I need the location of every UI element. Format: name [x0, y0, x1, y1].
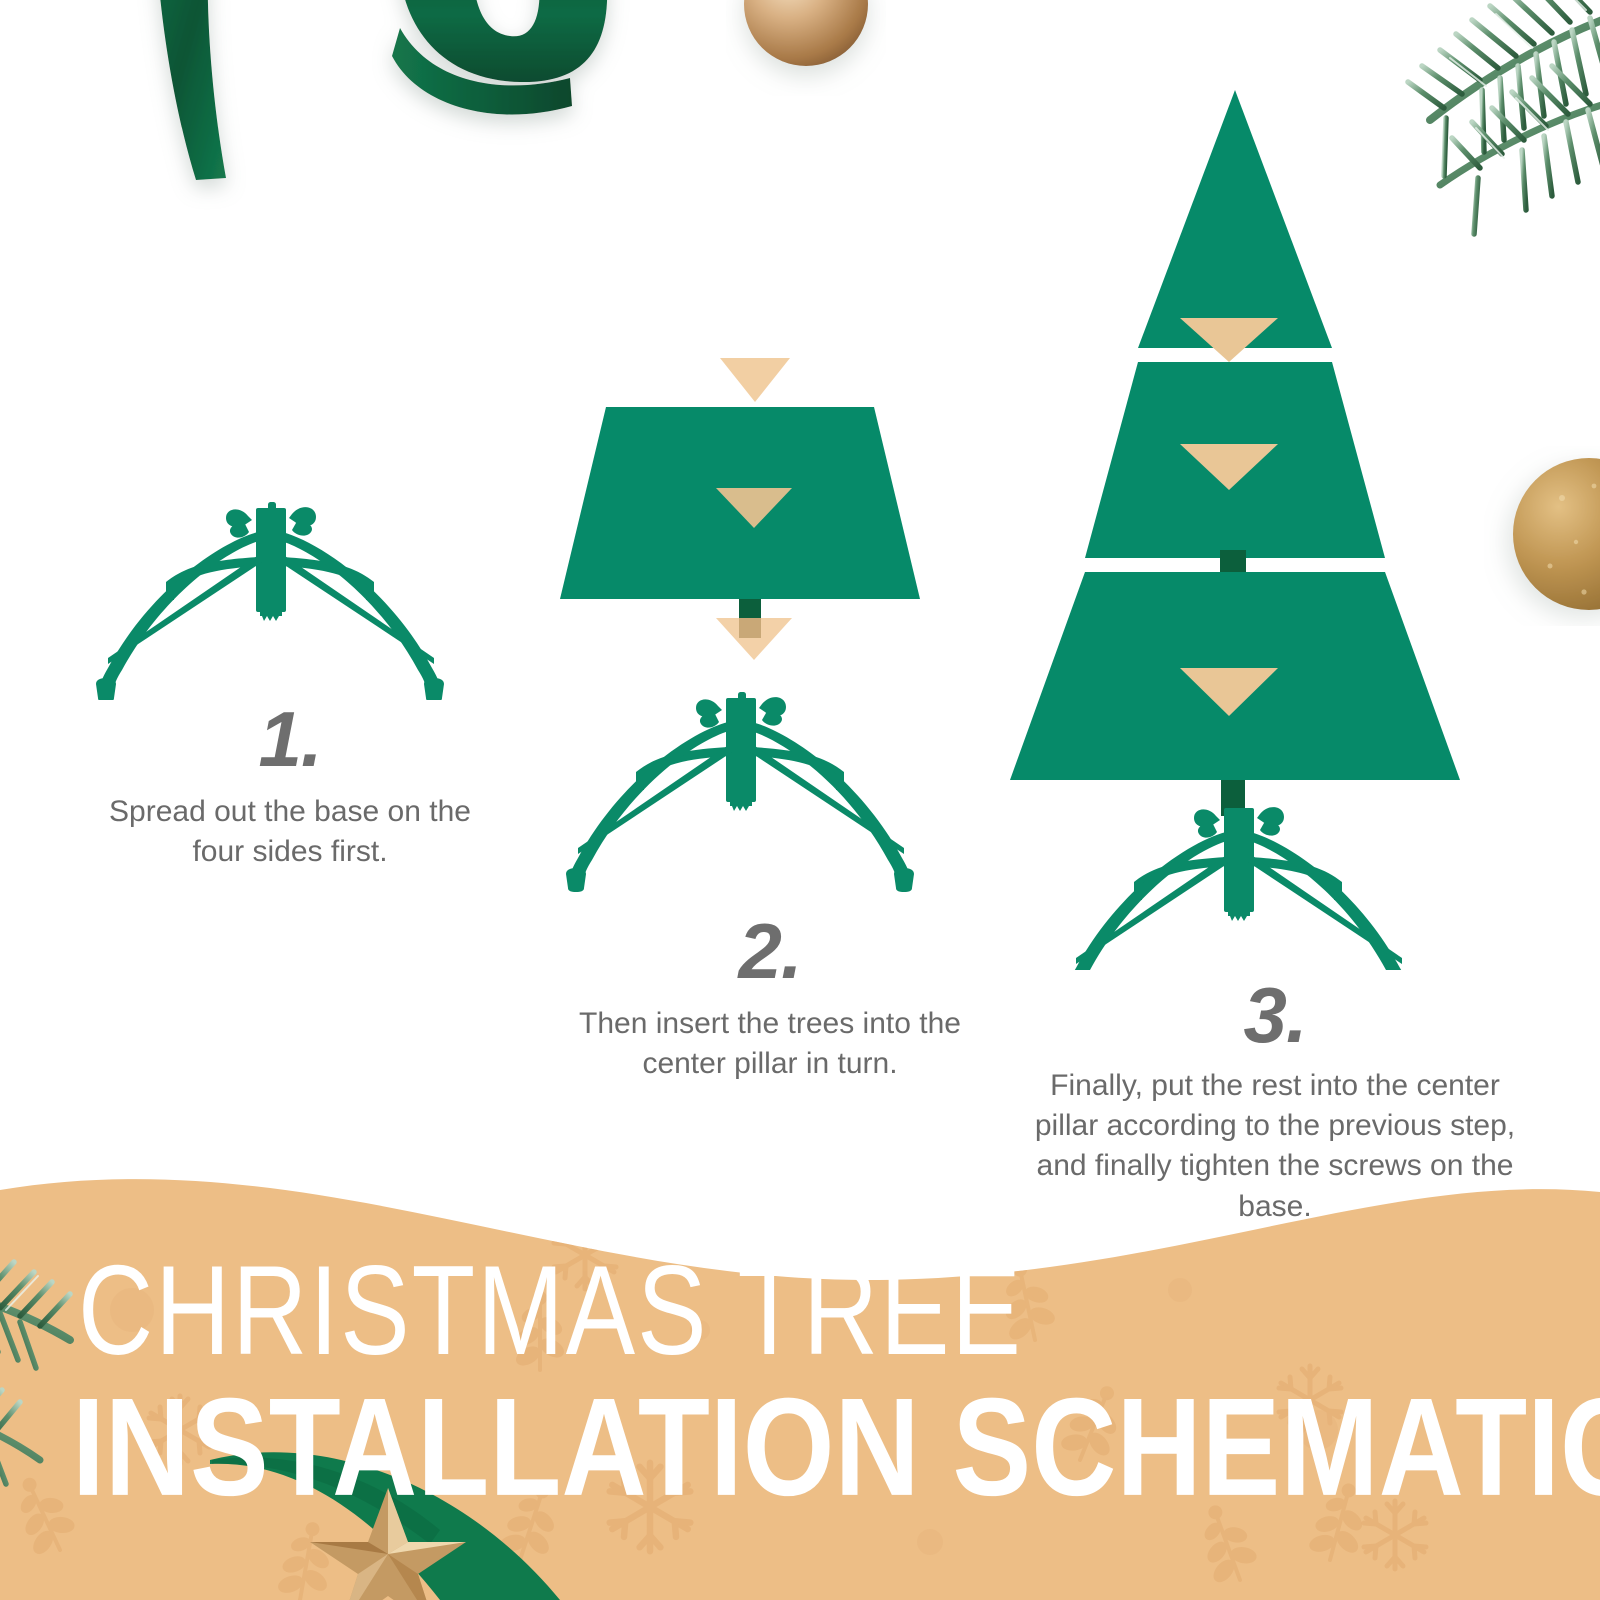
insert-arrow-top [720, 358, 790, 402]
step-1-description: Spread out the base on the four sides fi… [100, 792, 480, 872]
tree-stand-base-graphic-1 [70, 480, 470, 700]
green-satin-ribbon-top-left-icon [100, 0, 780, 230]
title-line-2: INSTALLATION SCHEMATIC [72, 1378, 1600, 1517]
step-3-number: 3. [990, 976, 1560, 1054]
step-1-block: 1. Spread out the base on the four sides… [40, 480, 540, 872]
step-3-block: 3. Finally, put the rest into the center… [990, 80, 1560, 1227]
tree-tier-top [1138, 90, 1332, 348]
step-2-number: 2. [520, 912, 1020, 990]
step-2-description: Then insert the trees into the center pi… [570, 1004, 970, 1084]
center-pillar-joint [1220, 550, 1246, 574]
step-2-block: 2. Then insert the trees into the center… [520, 340, 1020, 1084]
tree-section-and-stand-graphic [520, 340, 960, 900]
step-1-number: 1. [40, 700, 540, 778]
full-tree-assembled-graphic [990, 80, 1530, 970]
gold-ornament-ball-top-icon [726, 0, 886, 96]
title-line-1: CHRISTMAS TREE [78, 1248, 1023, 1375]
infographic-canvas: 1. Spread out the base on the four sides… [0, 0, 1600, 1600]
